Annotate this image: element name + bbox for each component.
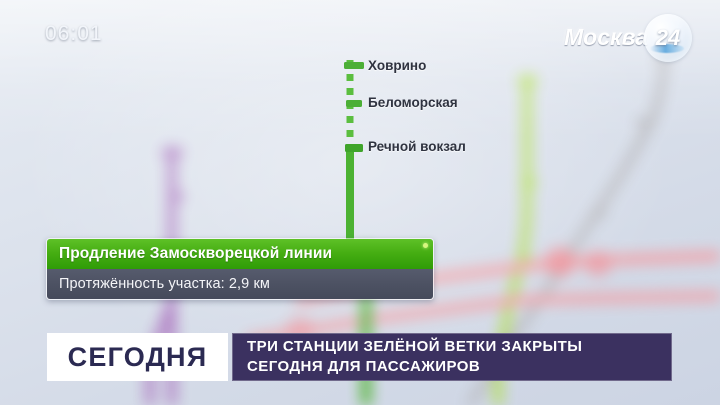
info-banner: Продление Замоскворецкой линии Протяжённ… xyxy=(46,238,434,300)
ticker-headline-line-1: ТРИ СТАНЦИИ ЗЕЛЁНОЙ ВЕТКИ ЗАКРЫТЫ xyxy=(247,337,671,357)
ticker-headline-box: ТРИ СТАНЦИИ ЗЕЛЁНОЙ ВЕТКИ ЗАКРЫТЫ СЕГОДН… xyxy=(232,333,672,381)
channel-logo-number: 24 xyxy=(644,14,692,62)
channel-logo: Москва 24 xyxy=(564,14,692,62)
info-banner-title: Продление Замоскворецкой линии xyxy=(59,245,332,262)
ticker-brand-label: СЕГОДНЯ xyxy=(68,342,208,373)
info-banner-subtitle: Протяжённость участка: 2,9 км xyxy=(47,269,433,299)
ticker-headline-line-2: СЕГОДНЯ ДЛЯ ПАССАЖИРОВ xyxy=(247,357,671,377)
broadcast-screen: Ховрино Беломорская Речной вокзал 06:01 … xyxy=(0,0,720,405)
on-air-clock: 06:01 xyxy=(45,22,103,46)
info-banner-title-row: Продление Замоскворецкой линии xyxy=(47,239,433,269)
channel-logo-sphere-icon: 24 xyxy=(644,14,692,62)
ticker-brand-box: СЕГОДНЯ xyxy=(47,333,228,381)
info-banner-dot-icon xyxy=(423,243,428,248)
channel-logo-word: Москва xyxy=(564,24,648,51)
